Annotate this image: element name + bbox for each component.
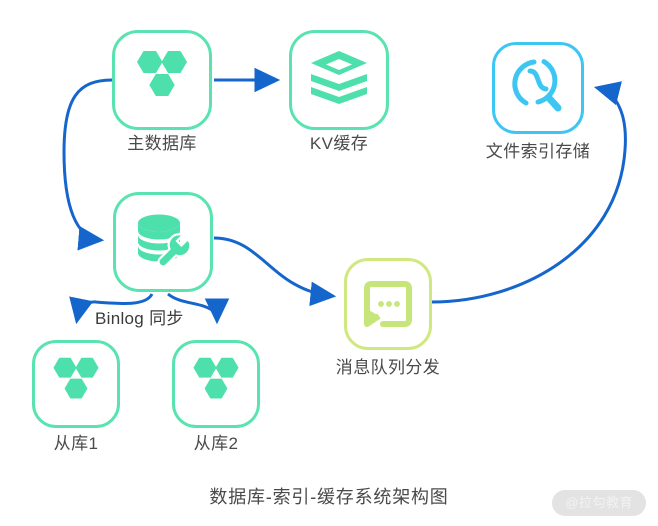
- database-wrench-icon: [131, 211, 195, 273]
- hexagon-cluster-icon: [47, 356, 105, 412]
- hexagon-cluster-icon: [187, 356, 245, 412]
- node-master-db[interactable]: 主数据库: [112, 30, 212, 130]
- edge-slavemanager-to-mq: [214, 238, 332, 296]
- node-file-index-storage-label: 文件索引存储: [486, 142, 590, 162]
- magnifier-search-icon: [508, 58, 568, 118]
- node-slave-db-2-label: 从库2: [194, 434, 239, 454]
- node-message-queue[interactable]: 消息队列分发: [344, 258, 432, 350]
- edge-master-to-slavemanager: [64, 80, 112, 240]
- node-kv-cache-label: KV缓存: [310, 134, 368, 154]
- node-message-queue-label: 消息队列分发: [336, 358, 440, 378]
- hexagon-cluster-icon: [130, 49, 194, 111]
- node-kv-cache[interactable]: KV缓存: [289, 30, 389, 130]
- diagram-canvas: 主数据库 KV缓存 文件索引存储: [0, 0, 658, 526]
- edge-label-binlog: Binlog 同步: [95, 309, 184, 329]
- node-master-db-label: 主数据库: [127, 134, 197, 154]
- node-slave-db-2[interactable]: 从库2: [172, 340, 260, 428]
- node-slave-manager-db[interactable]: [113, 192, 213, 292]
- node-file-index-storage[interactable]: 文件索引存储: [492, 42, 584, 134]
- node-slave-db-1[interactable]: 从库1: [32, 340, 120, 428]
- node-slave-db-1-label: 从库1: [54, 434, 99, 454]
- stacked-layers-icon: [308, 50, 370, 110]
- watermark-badge: @拉勾教育: [552, 490, 646, 516]
- chat-bubble-icon: [362, 279, 414, 329]
